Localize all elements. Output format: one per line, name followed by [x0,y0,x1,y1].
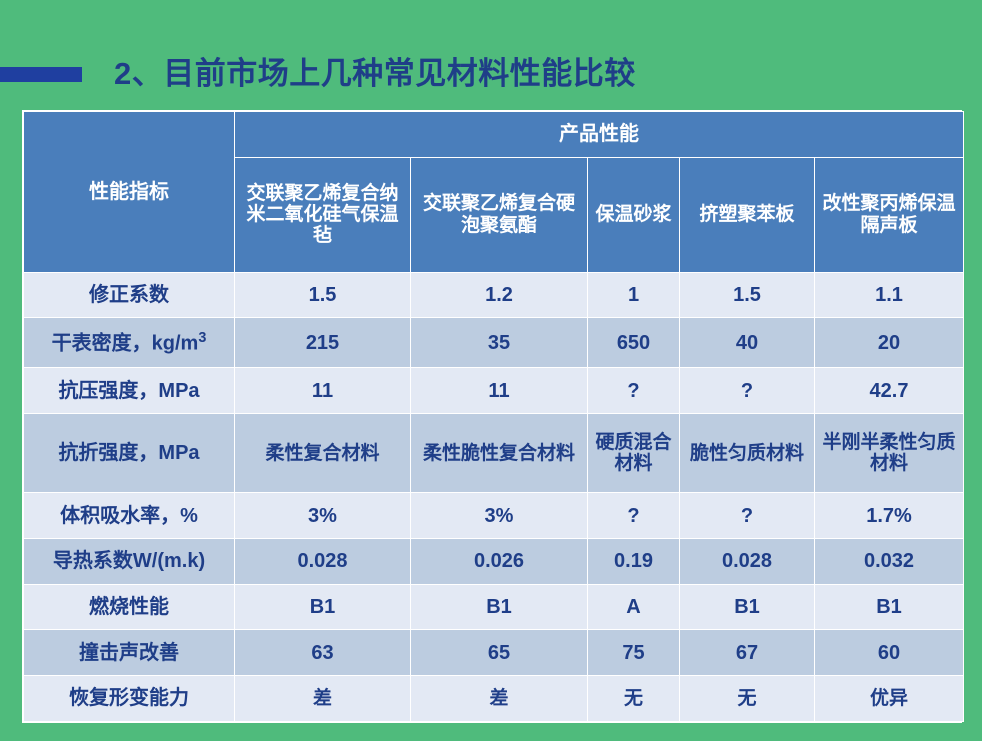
row-label: 燃烧性能 [24,584,235,630]
table-row: 恢复形变能力差差无无优异 [24,676,964,722]
table-cell: 1 [588,272,680,318]
column-header-group: 产品性能 [235,112,964,158]
table-cell: 柔性脆性复合材料 [411,414,588,493]
performance-comparison-table: 性能指标产品性能交联聚乙烯复合纳米二氧化硅气保温毡交联聚乙烯复合硬泡聚氨酯保温砂… [22,110,962,723]
row-label: 体积吸水率，% [24,493,235,539]
table-cell: 11 [235,368,411,414]
table-row: 体积吸水率，%3%3%??1.7% [24,493,964,539]
table-cell: B1 [411,584,588,630]
table-cell: 脆性匀质材料 [680,414,815,493]
table-cell: 1.5 [235,272,411,318]
row-label: 恢复形变能力 [24,676,235,722]
table-cell: 67 [680,630,815,676]
table-cell: B1 [815,584,964,630]
column-header-index: 性能指标 [24,112,235,273]
row-label: 撞击声改善 [24,630,235,676]
table-cell: 1.5 [680,272,815,318]
table-row: 撞击声改善6365756760 [24,630,964,676]
table-cell: 65 [411,630,588,676]
table-cell: 0.19 [588,539,680,585]
row-label-superscript: 3 [198,330,206,346]
slide-canvas: 2、目前市场上几种常见材料性能比较 性能指标产品性能交联聚乙烯复合纳米二氧化硅气… [0,0,982,741]
column-header-3: 保温砂浆 [588,157,680,272]
comparison-table: 性能指标产品性能交联聚乙烯复合纳米二氧化硅气保温毡交联聚乙烯复合硬泡聚氨酯保温砂… [23,111,964,722]
table-cell: 11 [411,368,588,414]
table-cell: 3% [235,493,411,539]
table-cell: 650 [588,318,680,368]
table-cell: 3% [411,493,588,539]
table-cell: ? [680,368,815,414]
table-cell: 20 [815,318,964,368]
table-cell: 柔性复合材料 [235,414,411,493]
row-label: 抗折强度，MPa [24,414,235,493]
title-accent-bar [0,67,82,82]
table-row: 导热系数W/(m.k)0.0280.0260.190.0280.032 [24,539,964,585]
table-cell: 75 [588,630,680,676]
table-cell: 优异 [815,676,964,722]
table-row: 抗折强度，MPa柔性复合材料柔性脆性复合材料硬质混合材料脆性匀质材料半刚半柔性匀… [24,414,964,493]
table-cell: A [588,584,680,630]
table-cell: 40 [680,318,815,368]
table-cell: 42.7 [815,368,964,414]
row-label: 抗压强度，MPa [24,368,235,414]
table-cell: 0.028 [680,539,815,585]
table-cell: 0.026 [411,539,588,585]
table-cell: ? [680,493,815,539]
table-cell: 硬质混合材料 [588,414,680,493]
page-title: 2、目前市场上几种常见材料性能比较 [114,48,636,93]
table-cell: 半刚半柔性匀质材料 [815,414,964,493]
table-cell: 1.1 [815,272,964,318]
table-row: 修正系数1.51.211.51.1 [24,272,964,318]
table-cell: 0.028 [235,539,411,585]
table-cell: ? [588,368,680,414]
table-cell: 差 [411,676,588,722]
table-cell: 0.032 [815,539,964,585]
row-label: 干表密度，kg/m3 [24,318,235,368]
table-cell: 无 [588,676,680,722]
column-header-1: 交联聚乙烯复合纳米二氧化硅气保温毡 [235,157,411,272]
table-cell: 差 [235,676,411,722]
column-header-4: 挤塑聚苯板 [680,157,815,272]
table-cell: 60 [815,630,964,676]
table-cell: ? [588,493,680,539]
table-cell: 1.7% [815,493,964,539]
table-cell: 无 [680,676,815,722]
table-row: 燃烧性能B1B1AB1B1 [24,584,964,630]
row-label: 修正系数 [24,272,235,318]
row-label-text: 干表密度，kg/m [52,333,199,355]
row-label: 导热系数W/(m.k) [24,539,235,585]
table-row: 抗压强度，MPa1111??42.7 [24,368,964,414]
table-cell: 1.2 [411,272,588,318]
table-cell: 63 [235,630,411,676]
table-row: 干表密度，kg/m3215356504020 [24,318,964,368]
table-cell: B1 [235,584,411,630]
table-cell: B1 [680,584,815,630]
table-cell: 35 [411,318,588,368]
table-cell: 215 [235,318,411,368]
column-header-5: 改性聚丙烯保温隔声板 [815,157,964,272]
column-header-2: 交联聚乙烯复合硬泡聚氨酯 [411,157,588,272]
table-header-row-group: 性能指标产品性能 [24,112,964,158]
